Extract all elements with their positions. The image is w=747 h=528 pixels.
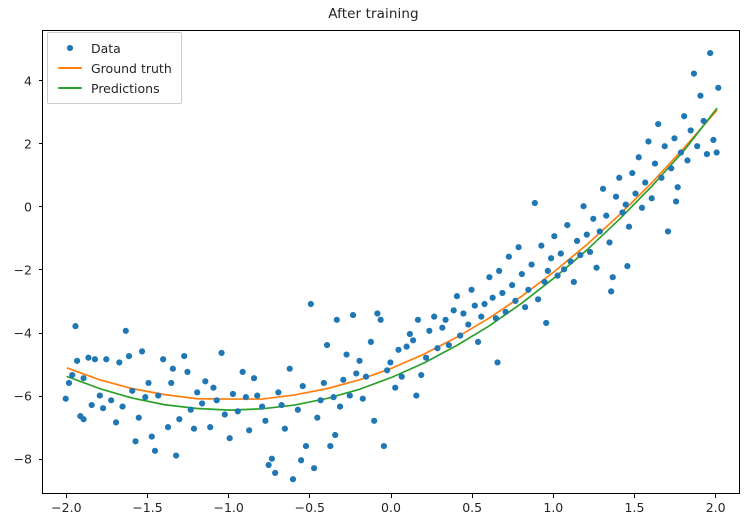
data-point xyxy=(392,385,398,391)
data-point xyxy=(587,249,593,255)
y-tick-mark xyxy=(39,459,43,460)
data-point xyxy=(509,282,515,288)
x-tick-label: −0.5 xyxy=(295,500,325,515)
data-point xyxy=(113,419,119,425)
data-point xyxy=(136,415,142,421)
data-point xyxy=(145,380,151,386)
data-point xyxy=(243,394,249,400)
data-point xyxy=(460,310,466,316)
data-point xyxy=(374,310,380,316)
data-point xyxy=(413,392,419,398)
data-point xyxy=(298,457,304,463)
data-point xyxy=(173,452,179,458)
y-tick-label: 2 xyxy=(2,136,32,151)
legend-item-predictions: Predictions xyxy=(55,78,172,98)
data-point xyxy=(330,394,336,400)
data-point xyxy=(360,396,366,402)
data-point xyxy=(632,190,638,196)
data-point xyxy=(478,314,484,320)
data-point xyxy=(404,344,410,350)
ground-truth-line-group xyxy=(67,111,716,400)
data-point xyxy=(535,296,541,302)
data-point xyxy=(512,298,518,304)
data-point xyxy=(334,317,340,323)
data-point xyxy=(529,261,535,267)
data-point xyxy=(525,287,531,293)
y-tick-mark xyxy=(39,206,43,207)
data-point xyxy=(490,295,496,301)
data-point xyxy=(593,265,599,271)
data-point xyxy=(170,366,176,372)
data-point xyxy=(624,263,630,269)
data-point xyxy=(259,404,265,410)
data-point xyxy=(149,434,155,440)
data-point xyxy=(503,309,509,315)
data-point xyxy=(574,238,580,244)
data-point xyxy=(506,254,512,260)
data-point xyxy=(184,369,190,375)
data-point xyxy=(665,228,671,234)
data-point xyxy=(269,456,275,462)
data-scatter-points xyxy=(63,50,722,482)
data-point xyxy=(337,404,343,410)
y-tick-label: 0 xyxy=(2,199,32,214)
x-tick-label: −1.5 xyxy=(132,500,162,515)
data-point xyxy=(561,266,567,272)
data-point xyxy=(300,383,306,389)
data-point xyxy=(516,244,522,250)
data-point xyxy=(639,205,645,211)
y-tick-label: −2 xyxy=(2,262,32,277)
data-point xyxy=(636,154,642,160)
data-point xyxy=(431,314,437,320)
data-point xyxy=(103,356,109,362)
data-point xyxy=(543,320,549,326)
data-point xyxy=(603,213,609,219)
data-point xyxy=(407,331,413,337)
y-tick-mark xyxy=(39,269,43,270)
data-point xyxy=(230,391,236,397)
data-point xyxy=(564,222,570,228)
data-point xyxy=(92,356,98,362)
legend-label-data: Data xyxy=(91,41,121,56)
data-point xyxy=(126,353,132,359)
x-tick-mark xyxy=(634,494,635,498)
data-point xyxy=(434,345,440,351)
data-point xyxy=(123,328,129,334)
data-point xyxy=(188,407,194,413)
data-point xyxy=(194,389,200,395)
data-point xyxy=(623,202,629,208)
legend-item-ground-truth: Ground truth xyxy=(55,58,172,78)
chart-legend[interactable]: Data Ground truth Predictions xyxy=(47,32,182,104)
data-point xyxy=(303,443,309,449)
data-point xyxy=(327,443,333,449)
data-point xyxy=(649,195,655,201)
data-point xyxy=(642,179,648,185)
data-point xyxy=(168,380,174,386)
data-point xyxy=(652,160,658,166)
data-point xyxy=(142,394,148,400)
data-point xyxy=(254,392,260,398)
data-point xyxy=(610,274,616,280)
data-point xyxy=(100,405,106,411)
data-point xyxy=(668,165,674,171)
data-point xyxy=(85,355,91,361)
data-point xyxy=(597,228,603,234)
data-point xyxy=(655,121,661,127)
x-tick-mark xyxy=(228,494,229,498)
data-point xyxy=(116,359,122,365)
data-point xyxy=(240,369,246,375)
data-point xyxy=(418,372,424,378)
data-point xyxy=(678,149,684,155)
data-point xyxy=(465,321,471,327)
data-point xyxy=(251,375,257,381)
data-point xyxy=(616,175,622,181)
data-point xyxy=(499,290,505,296)
data-point xyxy=(132,438,138,444)
data-point xyxy=(519,271,525,277)
data-point xyxy=(108,397,114,403)
x-tick-label: 0.5 xyxy=(462,500,482,515)
line-swatch-icon xyxy=(55,87,85,89)
data-point xyxy=(548,255,554,261)
data-point xyxy=(191,426,197,432)
data-point xyxy=(645,138,651,144)
data-point xyxy=(613,194,619,200)
data-point xyxy=(395,347,401,353)
data-point xyxy=(551,233,557,239)
data-point xyxy=(317,397,323,403)
legend-item-data: Data xyxy=(55,38,172,58)
data-point xyxy=(600,186,606,192)
y-tick-mark xyxy=(39,143,43,144)
data-point xyxy=(454,293,460,299)
data-point xyxy=(266,462,272,468)
data-point xyxy=(347,392,353,398)
data-point xyxy=(619,209,625,215)
data-point xyxy=(353,370,359,376)
data-point xyxy=(152,448,158,454)
data-point xyxy=(457,333,463,339)
data-point xyxy=(275,389,281,395)
legend-label-predictions: Predictions xyxy=(91,81,160,96)
data-point xyxy=(577,252,583,258)
data-point xyxy=(272,470,278,476)
data-point xyxy=(715,85,721,91)
data-point xyxy=(66,380,72,386)
chart-title: After training xyxy=(0,6,747,22)
matplotlib-figure: After training 420−2−4−6−8 −2.0−1.5−1.0−… xyxy=(0,0,747,528)
data-point xyxy=(493,315,499,321)
data-point xyxy=(671,135,677,141)
data-point xyxy=(554,273,560,279)
data-point xyxy=(532,200,538,206)
x-tick-mark xyxy=(472,494,473,498)
y-tick-label: −6 xyxy=(2,389,32,404)
data-point xyxy=(155,392,161,398)
x-tick-label: 0.0 xyxy=(381,500,401,515)
data-point xyxy=(227,435,233,441)
data-point xyxy=(710,137,716,143)
data-point xyxy=(567,258,573,264)
x-tick-label: −1.0 xyxy=(213,500,243,515)
data-point xyxy=(287,366,293,372)
data-point xyxy=(202,378,208,384)
x-tick-mark xyxy=(147,494,148,498)
data-point xyxy=(199,400,205,406)
data-point xyxy=(684,157,690,163)
data-point xyxy=(681,113,687,119)
data-point xyxy=(340,377,346,383)
data-point xyxy=(704,151,710,157)
data-point xyxy=(371,418,377,424)
y-tick-mark xyxy=(39,333,43,334)
data-point xyxy=(129,388,135,394)
data-point xyxy=(363,374,369,380)
data-point xyxy=(451,307,457,313)
legend-label-ground-truth: Ground truth xyxy=(91,61,172,76)
data-point xyxy=(89,402,95,408)
data-point xyxy=(580,203,586,209)
data-point xyxy=(160,356,166,362)
data-point xyxy=(538,243,544,249)
data-point xyxy=(295,407,301,413)
data-point xyxy=(378,317,384,323)
data-point xyxy=(279,402,285,408)
data-point xyxy=(207,424,213,430)
x-tick-label: 2.0 xyxy=(706,500,726,515)
data-point xyxy=(694,143,700,149)
data-point xyxy=(311,465,317,471)
data-point xyxy=(343,351,349,357)
data-point xyxy=(590,216,596,222)
x-tick-mark xyxy=(66,494,67,498)
data-point xyxy=(675,184,681,190)
data-point xyxy=(387,359,393,365)
scatter-marker-icon xyxy=(55,45,85,51)
data-point xyxy=(584,231,590,237)
data-point xyxy=(442,317,448,323)
data-point xyxy=(350,312,356,318)
data-point xyxy=(475,339,481,345)
data-point xyxy=(658,175,664,181)
data-point xyxy=(541,279,547,285)
data-point xyxy=(381,443,387,449)
data-point xyxy=(468,287,474,293)
data-point xyxy=(522,304,528,310)
y-tick-label: −4 xyxy=(2,326,32,341)
data-point xyxy=(139,348,145,354)
x-tick-label: −2.0 xyxy=(51,500,81,515)
line-swatch-icon xyxy=(55,67,85,69)
data-point xyxy=(714,149,720,155)
data-point xyxy=(356,358,362,364)
data-point xyxy=(707,50,713,56)
data-point xyxy=(697,93,703,99)
data-point xyxy=(399,374,405,380)
data-point xyxy=(80,375,86,381)
data-point xyxy=(235,408,241,414)
data-point xyxy=(691,71,697,77)
data-point xyxy=(410,337,416,343)
data-point xyxy=(673,198,679,204)
data-point xyxy=(426,328,432,334)
data-point xyxy=(282,426,288,432)
data-point xyxy=(321,380,327,386)
y-tick-label: 4 xyxy=(2,73,32,88)
data-point xyxy=(210,385,216,391)
x-tick-label: 1.5 xyxy=(625,500,645,515)
data-point xyxy=(262,418,268,424)
data-point xyxy=(481,301,487,307)
data-point xyxy=(423,355,429,361)
data-point xyxy=(415,317,421,323)
data-point xyxy=(181,353,187,359)
data-point xyxy=(368,339,374,345)
data-point xyxy=(74,358,80,364)
data-point xyxy=(214,397,220,403)
data-point xyxy=(165,424,171,430)
data-point xyxy=(246,427,252,433)
x-tick-mark xyxy=(553,494,554,498)
data-point xyxy=(384,367,390,373)
data-point xyxy=(176,416,182,422)
x-tick-mark xyxy=(391,494,392,498)
data-point xyxy=(629,170,635,176)
data-point xyxy=(626,224,632,230)
data-point xyxy=(606,239,612,245)
data-point xyxy=(545,268,551,274)
data-point xyxy=(496,268,502,274)
data-point xyxy=(69,372,75,378)
data-point xyxy=(472,303,478,309)
data-point xyxy=(97,392,103,398)
data-point xyxy=(662,143,668,149)
data-point xyxy=(308,301,314,307)
data-point xyxy=(701,118,707,124)
data-point xyxy=(290,476,296,482)
data-point xyxy=(119,404,125,410)
data-point xyxy=(486,274,492,280)
y-tick-label: −8 xyxy=(2,452,32,467)
data-point xyxy=(80,416,86,422)
data-point xyxy=(571,279,577,285)
data-point xyxy=(72,323,78,329)
data-point xyxy=(494,359,500,365)
data-point xyxy=(688,127,694,133)
x-tick-mark xyxy=(309,494,310,498)
x-tick-mark xyxy=(715,494,716,498)
data-point xyxy=(218,350,224,356)
x-tick-label: 1.0 xyxy=(543,500,563,515)
y-tick-mark xyxy=(39,80,43,81)
data-point xyxy=(324,342,330,348)
data-point xyxy=(332,432,338,438)
y-tick-mark xyxy=(39,396,43,397)
data-point xyxy=(314,415,320,421)
data-point xyxy=(558,250,564,256)
data-point xyxy=(439,325,445,331)
data-point xyxy=(608,288,614,294)
data-point xyxy=(222,411,228,417)
data-point xyxy=(63,396,69,402)
data-point xyxy=(446,342,452,348)
ground-truth-line xyxy=(67,111,716,400)
